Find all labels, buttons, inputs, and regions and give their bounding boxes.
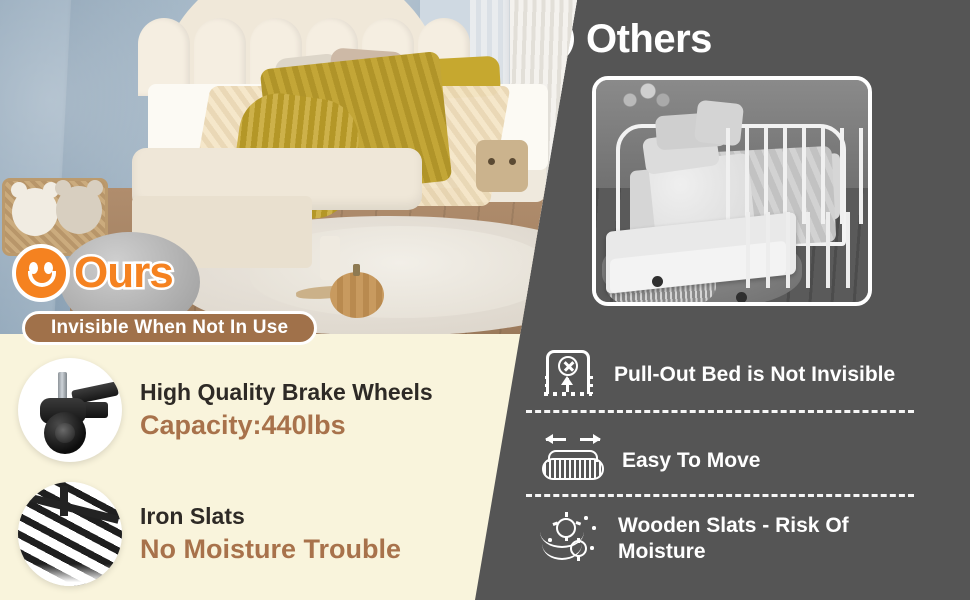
- photo-rail-bars-back: [726, 128, 866, 224]
- ours-feature-text-1: High Quality Brake Wheels Capacity:440lb…: [140, 379, 433, 441]
- ours-title: Ours: [74, 248, 173, 298]
- others-feature-row-2: Easy To Move: [540, 436, 761, 486]
- photo-caster-1: [736, 292, 747, 303]
- others-title: Others: [586, 17, 712, 62]
- others-feature-row-3: Wooden Slats - Risk Of Moisture: [540, 512, 918, 566]
- ours-feature-title-2: Iron Slats: [140, 503, 401, 529]
- photo-rail-bars-front: [746, 212, 866, 288]
- photo-pumpkin: [330, 272, 384, 318]
- others-feature-label-1: Pull-Out Bed is Not Invisible: [614, 362, 895, 388]
- ours-feature-text-2: Iron Slats No Moisture Trouble: [140, 503, 401, 565]
- photo-doll: [476, 140, 528, 192]
- ours-feature-title-1: High Quality Brake Wheels: [140, 379, 433, 405]
- others-product-photo: [592, 76, 872, 306]
- iron-slats-icon: [18, 482, 122, 586]
- ours-feature-row-1: High Quality Brake Wheels Capacity:440lb…: [18, 358, 433, 462]
- moisture-germs-icon: [540, 512, 602, 566]
- ours-header: Ours: [12, 244, 173, 302]
- ours-highlight-pill: Invisible When Not In Use: [22, 311, 317, 345]
- ours-feature-subtitle-1: Capacity:440lbs: [140, 409, 433, 441]
- photo-plant: [612, 82, 672, 112]
- smiley-face-icon: [12, 244, 70, 302]
- ours-feature-subtitle-2: No Moisture Trouble: [140, 533, 401, 565]
- caster-wheel-icon: [18, 358, 122, 462]
- easy-to-move-icon: [540, 436, 606, 486]
- others-feature-label-3: Wooden Slats - Risk Of Moisture: [618, 513, 918, 564]
- ours-feature-row-2: Iron Slats No Moisture Trouble: [18, 482, 401, 586]
- photo-teddy-bear-2: [56, 186, 102, 234]
- ours-pill-label: Invisible When Not In Use: [51, 317, 288, 339]
- photo-teddy-bear-1: [12, 188, 58, 236]
- comparison-infographic: Others Pull-Ou: [0, 0, 970, 600]
- pull-out-not-invisible-icon: [540, 346, 598, 404]
- others-feature-label-2: Easy To Move: [622, 448, 761, 474]
- others-panel: Others Pull-Ou: [500, 0, 970, 600]
- divider-dashed-2: [526, 494, 914, 497]
- smiley-mouth: [28, 271, 56, 287]
- others-feature-row-1: Pull-Out Bed is Not Invisible: [540, 346, 895, 404]
- photo-caster-2: [652, 276, 663, 287]
- divider-dashed-1: [526, 410, 914, 413]
